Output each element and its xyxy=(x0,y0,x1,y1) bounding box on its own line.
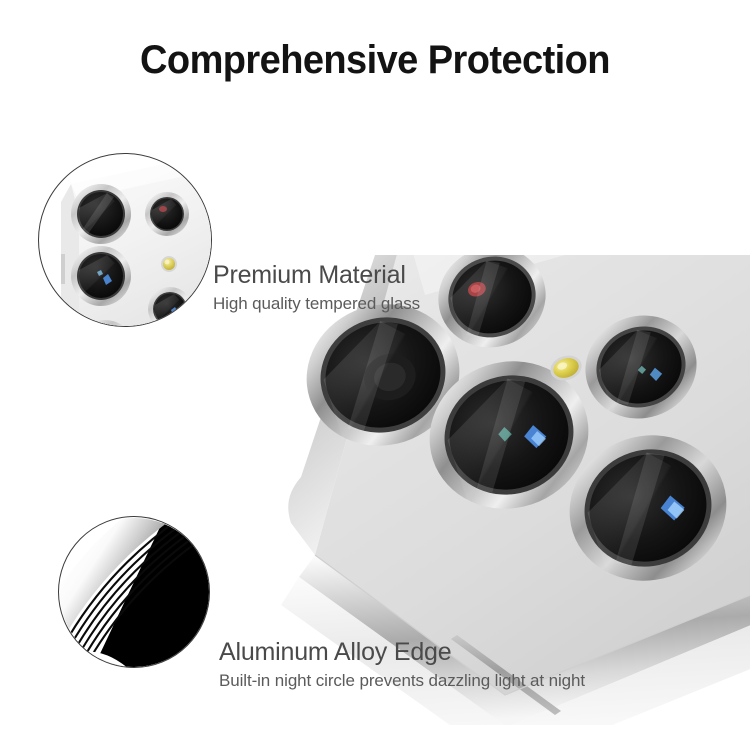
callout-lens-upper-small xyxy=(145,192,189,236)
callout-camera-lens-closeup xyxy=(38,153,212,327)
page-title: Comprehensive Protection xyxy=(19,38,732,83)
callout-flash-sensor xyxy=(161,256,177,272)
callout-side-button xyxy=(61,254,65,284)
product-feature-infographic: { "page": { "title": "Comprehensive Prot… xyxy=(0,0,750,750)
callout-edge-svg xyxy=(59,517,210,668)
feature-subtitle-alloy-edge: Built-in night circle prevents dazzling … xyxy=(219,670,585,691)
callout-lens-middle-large xyxy=(71,246,131,306)
feature-title-alloy-edge: Aluminum Alloy Edge xyxy=(219,639,585,667)
feature-text-premium-material: Premium Material High quality tempered g… xyxy=(213,262,420,314)
feature-title-premium-material: Premium Material xyxy=(213,262,420,290)
feature-text-alloy-edge: Aluminum Alloy Edge Built-in night circl… xyxy=(219,639,585,691)
callout-lens-svg xyxy=(39,154,212,327)
callout-lens-upper-large xyxy=(71,184,131,244)
callout-alloy-ring-macro xyxy=(58,516,210,668)
feature-subtitle-premium-material: High quality tempered glass xyxy=(213,293,420,314)
